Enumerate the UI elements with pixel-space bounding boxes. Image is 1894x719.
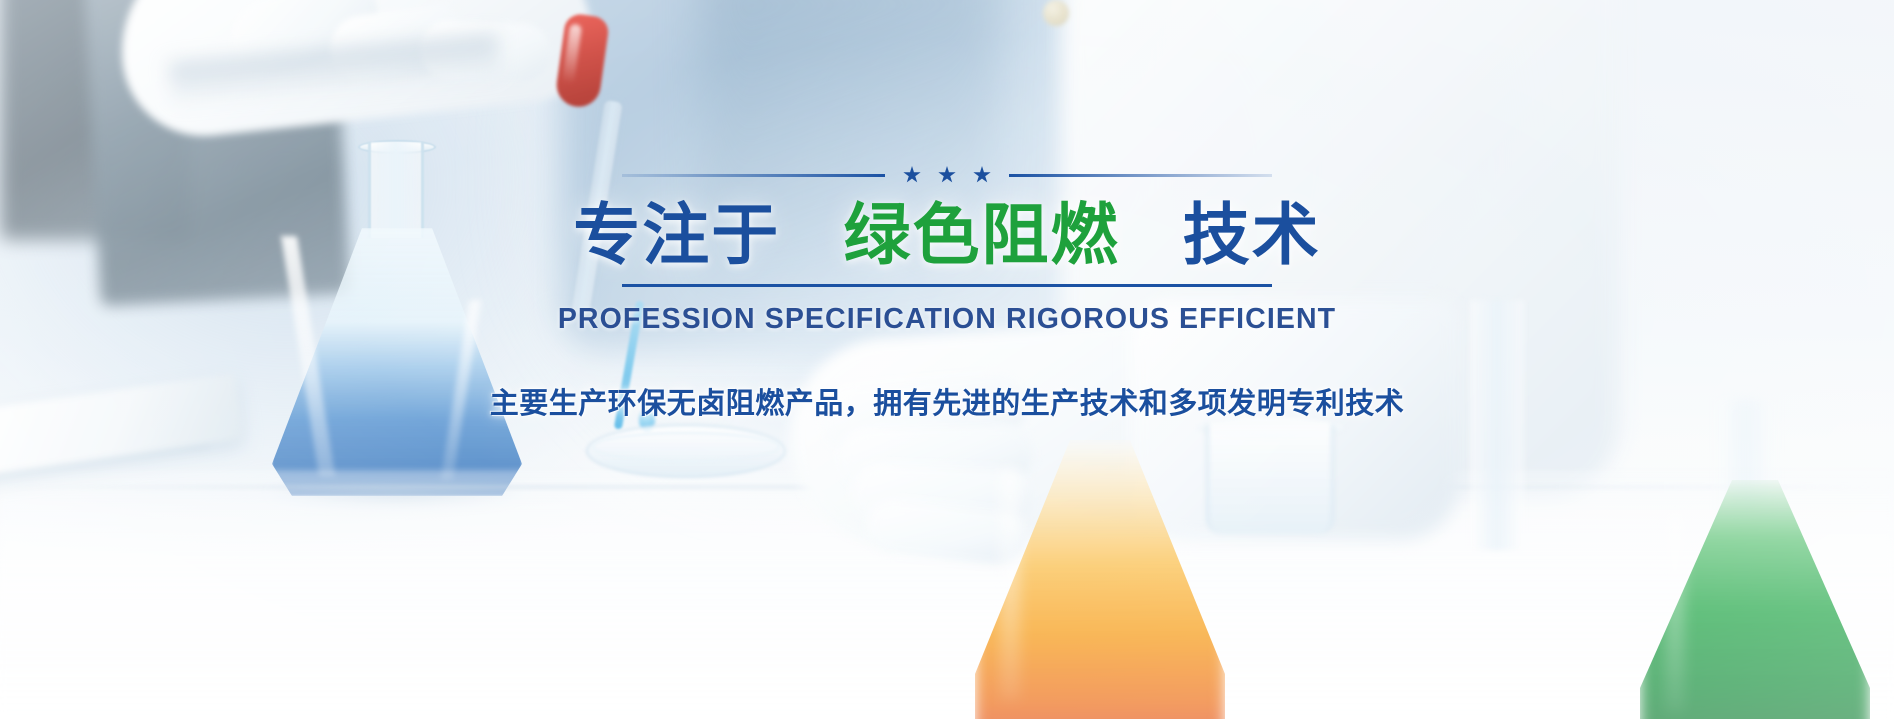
top-decorative-rule bbox=[622, 166, 1272, 184]
star-icon bbox=[973, 166, 991, 184]
star-group bbox=[903, 166, 991, 184]
subtitle-english: PROFESSION SPECIFICATION RIGOROUS EFFICI… bbox=[558, 303, 1336, 336]
hero-banner: 专注于 绿色阻燃 技术 PROFESSION SPECIFICATION RIG… bbox=[0, 0, 1894, 719]
headline-part-3: 技术 bbox=[1183, 198, 1321, 273]
star-icon bbox=[938, 166, 956, 184]
headline: 专注于 绿色阻燃 技术 bbox=[573, 200, 1321, 272]
bottom-decorative-rule bbox=[622, 284, 1272, 287]
rule-right bbox=[1009, 174, 1272, 177]
banner-content: 专注于 绿色阻燃 技术 PROFESSION SPECIFICATION RIG… bbox=[0, 0, 1894, 719]
subtitle-chinese: 主要生产环保无卤阻燃产品，拥有先进的生产技术和多项发明专利技术 bbox=[490, 380, 1405, 422]
rule-left bbox=[622, 174, 885, 177]
headline-part-1: 专注于 bbox=[573, 198, 780, 273]
star-icon bbox=[903, 166, 921, 184]
headline-part-2: 绿色阻燃 bbox=[844, 198, 1120, 273]
